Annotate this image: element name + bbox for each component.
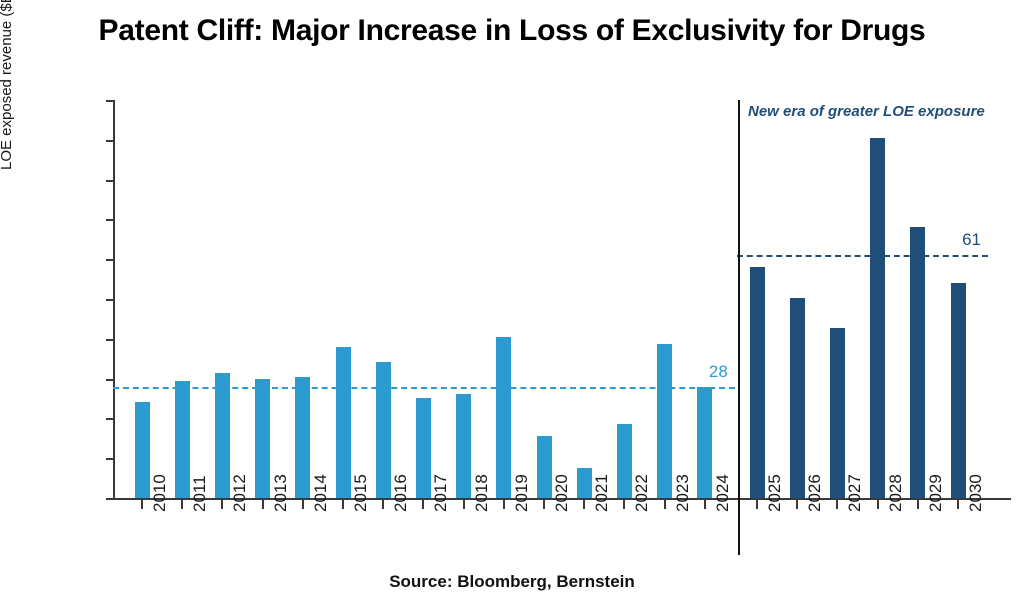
x-axis-tick xyxy=(181,500,183,509)
x-axis-tick xyxy=(543,500,545,509)
bar-2014[interactable] xyxy=(295,377,310,498)
y-axis-tick xyxy=(106,379,113,381)
x-axis-label-2029: 2029 xyxy=(926,474,946,512)
y-axis-tick xyxy=(106,339,113,341)
x-axis-label-2014: 2014 xyxy=(311,474,331,512)
x-axis-tick xyxy=(704,500,706,509)
x-axis-tick xyxy=(917,500,919,509)
y-axis-tick xyxy=(106,219,113,221)
reference-line-historical-average xyxy=(113,387,735,389)
x-axis-label-2016: 2016 xyxy=(391,474,411,512)
bar-2011[interactable] xyxy=(175,381,190,498)
y-axis-tick xyxy=(106,100,113,102)
y-axis-tick xyxy=(106,140,113,142)
bar-2018[interactable] xyxy=(456,394,471,498)
x-axis-label-2025: 2025 xyxy=(765,474,785,512)
y-axis-tick xyxy=(106,498,113,500)
x-axis-tick xyxy=(463,500,465,509)
x-axis-label-2015: 2015 xyxy=(351,474,371,512)
y-axis-tick xyxy=(106,299,113,301)
bar-2012[interactable] xyxy=(215,373,230,498)
x-axis-tick xyxy=(583,500,585,509)
x-axis-tick xyxy=(221,500,223,509)
x-axis-tick xyxy=(262,500,264,509)
bar-2016[interactable] xyxy=(376,362,391,498)
reference-line-label-forecast-average: 61 xyxy=(962,230,981,250)
x-axis-tick xyxy=(302,500,304,509)
chart-root: Patent Cliff: Major Increase in Loss of … xyxy=(0,0,1024,611)
x-axis-label-2024: 2024 xyxy=(713,474,733,512)
x-axis-label-2011: 2011 xyxy=(190,475,210,512)
x-axis-label-2012: 2012 xyxy=(230,474,250,512)
bar-2020[interactable] xyxy=(537,436,552,498)
x-axis-tick xyxy=(664,500,666,509)
x-axis-tick xyxy=(796,500,798,509)
reference-line-forecast-average xyxy=(737,255,988,257)
era-divider-line xyxy=(738,100,740,555)
y-axis-tick xyxy=(106,458,113,460)
x-axis-label-2020: 2020 xyxy=(552,474,572,512)
bar-2010[interactable] xyxy=(135,402,150,498)
page-title: Patent Cliff: Major Increase in Loss of … xyxy=(0,14,1024,48)
bar-2023[interactable] xyxy=(657,344,672,498)
bar-2022[interactable] xyxy=(617,424,632,498)
y-axis-tick xyxy=(106,180,113,182)
reference-line-label-historical-average: 28 xyxy=(709,362,728,382)
bar-2025[interactable] xyxy=(750,267,765,498)
y-axis-title: LOE exposed revenue ($B, global) xyxy=(0,0,15,170)
x-axis-label-2023: 2023 xyxy=(673,474,693,512)
plot-area: -10.020.030.040.050.060.070.080.090.0100… xyxy=(113,100,1011,498)
x-axis-label-2021: 2021 xyxy=(592,474,612,512)
x-axis-tick xyxy=(342,500,344,509)
x-axis-label-2026: 2026 xyxy=(805,474,825,512)
x-axis-tick xyxy=(877,500,879,509)
bar-2026[interactable] xyxy=(790,298,805,498)
bar-2019[interactable] xyxy=(496,337,511,498)
y-axis-tick xyxy=(106,418,113,420)
x-axis-tick xyxy=(623,500,625,509)
y-axis-tick xyxy=(106,259,113,261)
bar-2029[interactable] xyxy=(910,227,925,498)
x-axis-label-2013: 2013 xyxy=(271,474,291,512)
bar-2028[interactable] xyxy=(870,138,885,498)
bar-2024[interactable] xyxy=(697,387,712,498)
x-axis-label-2030: 2030 xyxy=(966,474,986,512)
x-axis-tick xyxy=(836,500,838,509)
era-annotation-label: New era of greater LOE exposure xyxy=(748,103,985,120)
x-axis-tick xyxy=(422,500,424,509)
x-axis-label-2027: 2027 xyxy=(845,474,865,512)
bar-2017[interactable] xyxy=(416,398,431,498)
bar-2030[interactable] xyxy=(951,283,966,498)
x-axis-tick xyxy=(382,500,384,509)
bar-2013[interactable] xyxy=(255,379,270,498)
x-axis-label-2017: 2017 xyxy=(431,474,451,512)
source-caption: Source: Bloomberg, Bernstein xyxy=(0,572,1024,592)
x-axis-label-2010: 2010 xyxy=(150,474,170,512)
bar-2015[interactable] xyxy=(336,347,351,498)
x-axis-tick xyxy=(957,500,959,509)
x-axis-label-2018: 2018 xyxy=(472,474,492,512)
x-axis-tick xyxy=(756,500,758,509)
x-axis-label-2022: 2022 xyxy=(632,474,652,512)
x-axis-label-2019: 2019 xyxy=(512,474,532,512)
bar-2021[interactable] xyxy=(577,468,592,498)
x-axis-label-2028: 2028 xyxy=(886,474,906,512)
x-axis-tick xyxy=(503,500,505,509)
x-axis-tick xyxy=(141,500,143,509)
bar-2027[interactable] xyxy=(830,328,845,498)
